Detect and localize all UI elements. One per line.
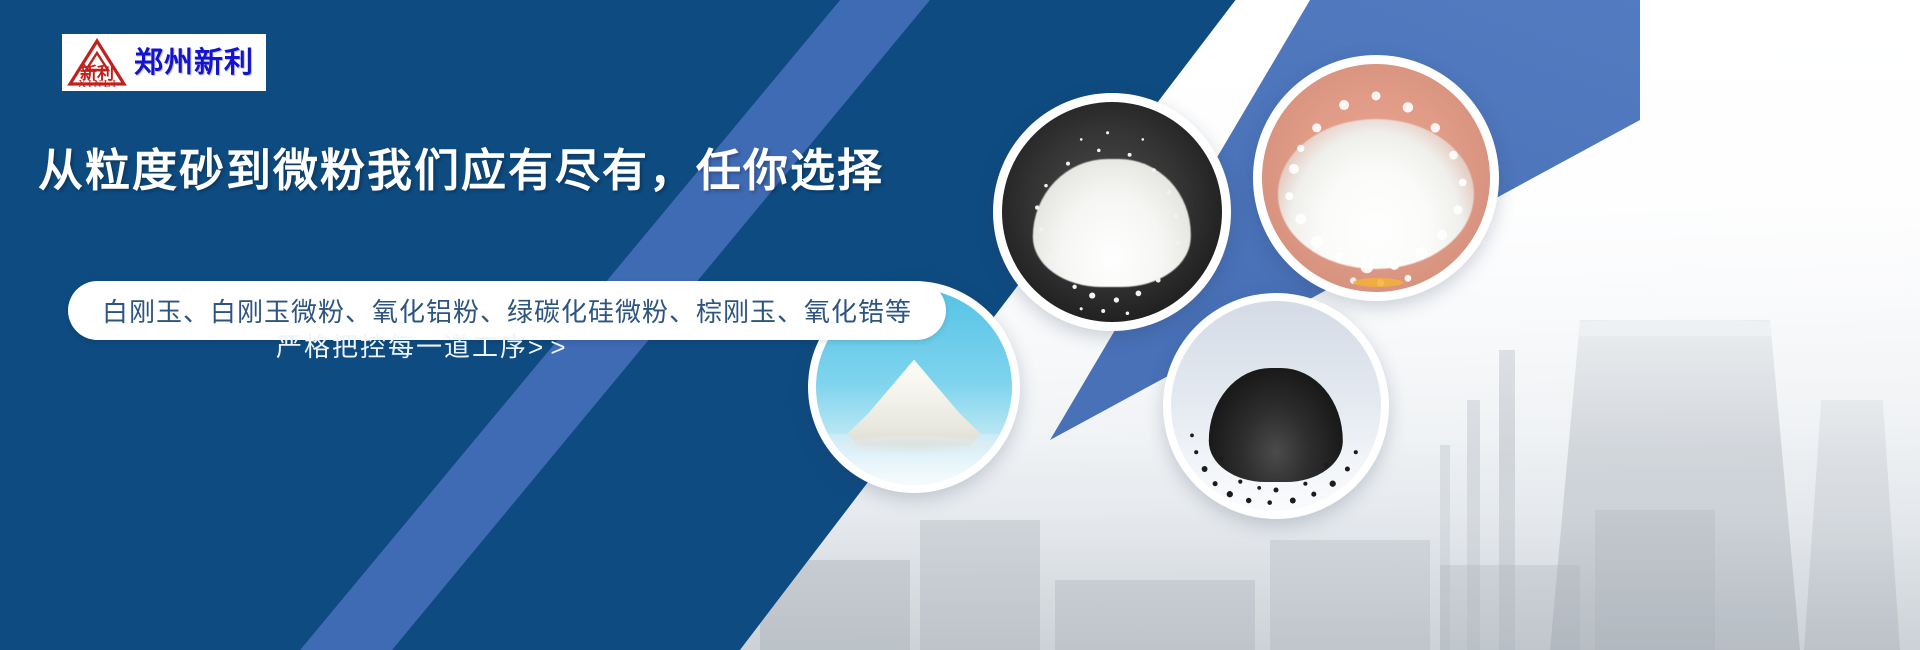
product-image-white-alumina-micropowder (1262, 64, 1490, 292)
material-heap (1209, 368, 1343, 481)
tray-rim-highlight (1353, 278, 1403, 287)
material-heap (1033, 159, 1191, 287)
logo-mark-subtext: XINLI (68, 78, 128, 90)
product-image-white-fused-alumina-grit (1002, 102, 1222, 322)
company-name: 郑州新利 (134, 48, 254, 77)
product-circle-white-alumina-micropowder (1253, 55, 1499, 301)
product-circle-white-fused-alumina-grit (993, 93, 1231, 331)
heap-base-shadow (840, 436, 989, 454)
promo-banner: 新利 XINLI 郑州新利 从粒度砂到微粉我们应有尽有，任你选择 白刚玉、白刚玉… (0, 0, 1920, 650)
product-image-green-silicon-carbide-grit (1171, 301, 1381, 511)
product-list-text: 白刚玉、白刚玉微粉、氧化铝粉、绿碳化硅微粉、棕刚玉、氧化锆等 (102, 292, 912, 329)
triangle-mountain-icon: 新利 XINLI (66, 37, 128, 89)
material-heap (847, 360, 980, 446)
cta-chevrons: > > (528, 332, 566, 362)
cta-subtitle-text: 严格把控每一道工序 (276, 333, 528, 363)
company-logo[interactable]: 新利 XINLI 郑州新利 (62, 34, 266, 91)
cta-subtitle[interactable]: 严格把控每一道工序> > (276, 327, 566, 364)
product-circle-green-silicon-carbide-grit (1163, 293, 1389, 519)
material-heap (1278, 119, 1474, 269)
page-title: 从粒度砂到微粉我们应有尽有，任你选择 (38, 144, 884, 198)
